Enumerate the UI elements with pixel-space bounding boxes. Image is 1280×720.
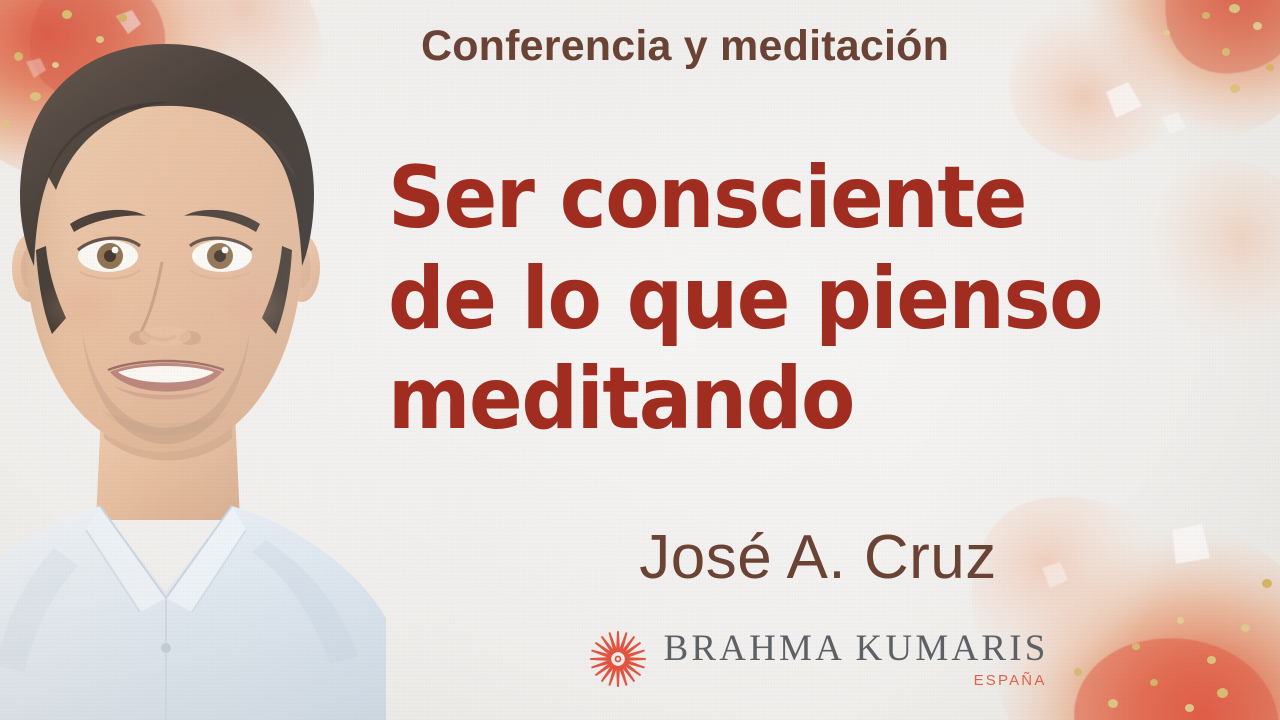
sunburst-icon — [587, 628, 649, 690]
gold-fleck — [1262, 579, 1272, 588]
brahma-kumaris-logo: BRAHMA KUMARIS ESPAÑA — [388, 628, 1248, 690]
slide-title: Ser consciente de lo que pienso meditand… — [388, 148, 1248, 450]
presentation-slide: Conferencia y meditación Ser consciente … — [0, 0, 1280, 720]
speaker-name: José A. Cruz — [388, 522, 1248, 593]
logo-name: BRAHMA KUMARIS — [663, 630, 1048, 667]
gold-fleck — [1108, 699, 1118, 708]
logo-wordmark: BRAHMA KUMARIS ESPAÑA — [663, 630, 1048, 689]
title-line-1: Ser consciente — [388, 148, 1179, 249]
gold-fleck — [1202, 12, 1210, 19]
logo-country: ESPAÑA — [974, 672, 1047, 689]
gold-fleck — [1185, 704, 1194, 712]
title-line-2: de lo que pienso — [388, 249, 1179, 350]
slide-kicker: Conferencia y meditación — [0, 22, 1280, 71]
gold-fleck — [1177, 617, 1184, 624]
gold-fleck — [1229, 4, 1240, 13]
gold-fleck — [1230, 84, 1240, 93]
speaker-portrait — [0, 0, 410, 720]
title-line-3: meditando — [388, 349, 1179, 450]
